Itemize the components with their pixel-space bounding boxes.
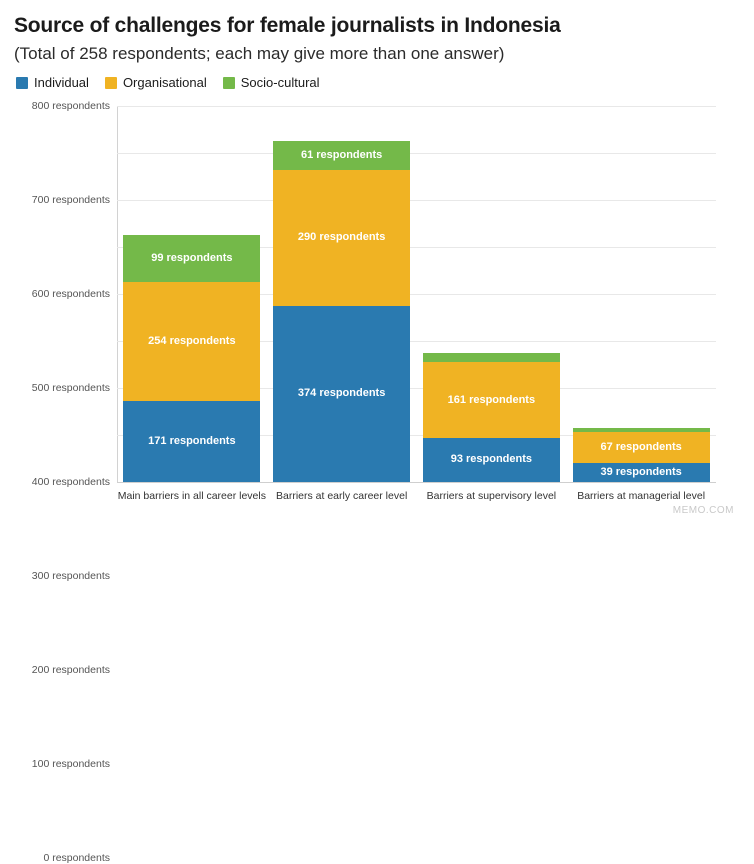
bar-segment[interactable]: 161 respondents <box>423 362 560 438</box>
bar-value-label: 290 respondents <box>298 232 385 243</box>
bar-segment[interactable]: 61 respondents <box>273 141 410 170</box>
bar-value-label: 161 respondents <box>448 395 535 406</box>
bar-segment[interactable]: 99 respondents <box>123 235 260 282</box>
bar-group[interactable]: 39 respondents67 respondentsBarriers at … <box>573 106 710 482</box>
legend-swatch-icon <box>223 77 235 89</box>
y-axis-tick-label: 100 respondents <box>32 758 110 770</box>
y-axis-tick-label: 0 respondents <box>43 852 110 864</box>
y-axis-tick-label: 400 respondents <box>32 476 110 488</box>
gridline: 0 respondents <box>117 482 716 483</box>
bar-value-label: 171 respondents <box>148 436 235 447</box>
bar-segment[interactable]: 374 respondents <box>273 306 410 482</box>
y-axis-tick-label: 300 respondents <box>32 570 110 582</box>
y-axis-tick-label: 700 respondents <box>32 194 110 206</box>
y-axis-tick-label: 800 respondents <box>32 100 110 112</box>
legend-swatch-icon <box>16 77 28 89</box>
legend-item-socio-cultural[interactable]: Socio-cultural <box>223 75 320 90</box>
bar-segment[interactable]: 93 respondents <box>423 438 560 482</box>
chart-subtitle: (Total of 258 respondents; each may give… <box>14 44 740 64</box>
bar-value-label: 61 respondents <box>301 150 382 161</box>
legend-label: Individual <box>34 75 89 90</box>
x-axis-tick-label: Barriers at managerial level <box>577 490 705 502</box>
legend-swatch-icon <box>105 77 117 89</box>
bar-value-label: 93 respondents <box>451 454 532 465</box>
x-axis-tick-label: Main barriers in all career levels <box>118 490 266 502</box>
bar-segment[interactable]: 254 respondents <box>123 282 260 401</box>
bar-segment[interactable]: 171 respondents <box>123 401 260 481</box>
bar-value-label: 67 respondents <box>600 442 681 453</box>
chart-root: Source of challenges for female journali… <box>0 0 754 545</box>
bar-segment[interactable]: 67 respondents <box>573 432 710 463</box>
bar-segment[interactable]: 39 respondents <box>573 463 710 481</box>
page-title: Source of challenges for female journali… <box>14 14 740 38</box>
legend-item-individual[interactable]: Individual <box>16 75 89 90</box>
y-axis-tick-label: 200 respondents <box>32 664 110 676</box>
bar-group[interactable]: 93 respondents161 respondentsBarriers at… <box>423 106 560 482</box>
bar-segment[interactable]: 290 respondents <box>273 170 410 306</box>
y-axis-tick-label: 600 respondents <box>32 288 110 300</box>
bar-segment[interactable] <box>423 353 560 362</box>
legend-item-organisational[interactable]: Organisational <box>105 75 207 90</box>
chart-legend: Individual Organisational Socio-cultural <box>16 74 740 92</box>
bar-segment[interactable] <box>573 428 710 432</box>
bar-group[interactable]: 374 respondents290 respondents61 respond… <box>273 106 410 482</box>
bar-group[interactable]: 171 respondents254 respondents99 respond… <box>123 106 260 482</box>
watermark: MEMO.COM <box>673 505 734 516</box>
plot-wrapper: 0 respondents100 respondents200 responde… <box>14 98 740 518</box>
bar-value-label: 374 respondents <box>298 388 385 399</box>
bar-value-label: 254 respondents <box>148 336 235 347</box>
legend-label: Socio-cultural <box>241 75 320 90</box>
y-axis-tick-label: 500 respondents <box>32 382 110 394</box>
x-axis-tick-label: Barriers at supervisory level <box>427 490 557 502</box>
x-axis-tick-label: Barriers at early career level <box>276 490 407 502</box>
legend-label: Organisational <box>123 75 207 90</box>
plot-area: 0 respondents100 respondents200 responde… <box>117 106 716 482</box>
bar-series: 171 respondents254 respondents99 respond… <box>117 106 716 482</box>
bar-value-label: 39 respondents <box>600 467 681 478</box>
bar-value-label: 99 respondents <box>151 253 232 264</box>
